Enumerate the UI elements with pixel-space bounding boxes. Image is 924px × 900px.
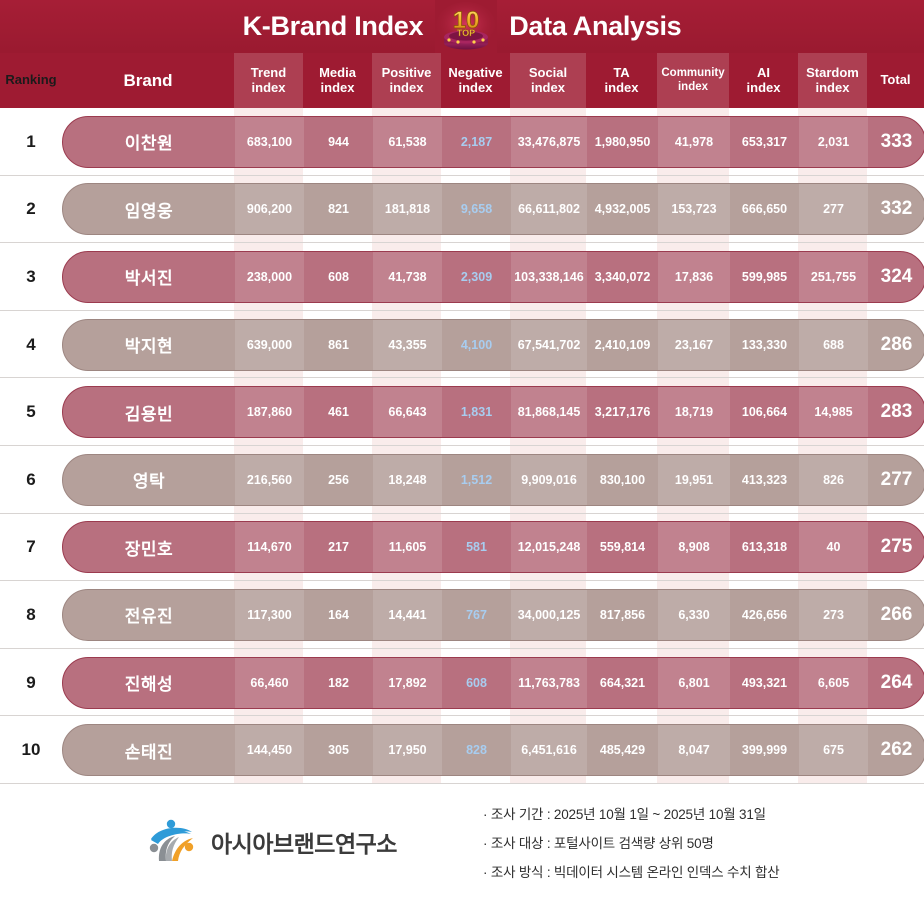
cell-brand: 김용빈 — [63, 387, 235, 437]
kbrand-index-infographic: K-Brand Index — [0, 0, 924, 900]
row-pill: 진해성66,46018217,89260811,763,783664,3216,… — [62, 657, 924, 709]
cell-ta: 817,856 — [587, 590, 658, 640]
page-title-left: K-Brand Index — [243, 11, 424, 42]
cell-media: 861 — [304, 320, 373, 370]
survey-note: · 조사 대상 : 포털사이트 검색량 상위 50명 — [483, 832, 779, 852]
cell-total: 324 — [868, 252, 924, 302]
column-header-sublabel: index — [319, 81, 356, 96]
page-title-right: Data Analysis — [509, 11, 681, 42]
rank-value: 2 — [0, 199, 62, 219]
cell-positive: 43,355 — [373, 320, 442, 370]
cell-ta: 3,340,072 — [587, 252, 658, 302]
cell-total: 266 — [868, 590, 924, 640]
cell-community: 8,047 — [658, 725, 730, 775]
cell-brand: 임영웅 — [63, 184, 235, 234]
cell-negative: 828 — [442, 725, 511, 775]
cell-ai: 399,999 — [730, 725, 799, 775]
cell-social: 67,541,702 — [511, 320, 587, 370]
cell-community: 23,167 — [658, 320, 730, 370]
cell-ai: 653,317 — [730, 117, 799, 167]
cell-negative: 9,658 — [442, 184, 511, 234]
column-header-label: Total — [880, 73, 910, 88]
cell-social: 81,868,145 — [511, 387, 587, 437]
cell-community: 19,951 — [658, 455, 730, 505]
cell-ai: 413,323 — [730, 455, 799, 505]
rank-value: 4 — [0, 335, 62, 355]
cell-social: 11,763,783 — [511, 658, 587, 708]
cell-community: 6,330 — [658, 590, 730, 640]
row-pill: 전유진117,30016414,44176734,000,125817,8566… — [62, 589, 924, 641]
column-header-trend: Trendindex — [234, 53, 303, 108]
table-row[interactable]: 4박지현639,00086143,3554,10067,541,7022,410… — [0, 311, 924, 379]
rank-value: 6 — [0, 470, 62, 490]
cell-positive: 181,818 — [373, 184, 442, 234]
survey-note: · 조사 기간 : 2025년 10월 1일 ~ 2025년 10월 31일 — [483, 803, 779, 823]
cell-media: 821 — [304, 184, 373, 234]
table-row[interactable]: 2임영웅906,200821181,8189,65866,611,8024,93… — [0, 176, 924, 244]
table-body: 1이찬원683,10094461,5382,18733,476,8751,980… — [0, 108, 924, 784]
cell-positive: 66,643 — [373, 387, 442, 437]
cell-positive: 18,248 — [373, 455, 442, 505]
cell-ta: 1,980,950 — [587, 117, 658, 167]
cell-stardom: 251,755 — [799, 252, 868, 302]
asia-brand-institute-logo-icon — [145, 815, 199, 869]
cell-social: 9,909,016 — [511, 455, 587, 505]
column-header-label: Media — [319, 66, 356, 81]
cell-social: 66,611,802 — [511, 184, 587, 234]
cell-brand: 손태진 — [63, 725, 235, 775]
column-header-media: Mediaindex — [303, 53, 372, 108]
cell-ta: 3,217,176 — [587, 387, 658, 437]
cell-trend: 187,860 — [235, 387, 304, 437]
column-header-sublabel: index — [806, 81, 859, 96]
column-header-label: Ranking — [5, 73, 56, 88]
cell-ta: 830,100 — [587, 455, 658, 505]
cell-total: 262 — [868, 725, 924, 775]
row-pill: 영탁216,56025618,2481,5129,909,016830,1001… — [62, 454, 924, 506]
cell-ai: 599,985 — [730, 252, 799, 302]
cell-stardom: 826 — [799, 455, 868, 505]
column-header-sublabel: index — [529, 81, 567, 96]
cell-social: 103,338,146 — [511, 252, 587, 302]
cell-ai: 426,656 — [730, 590, 799, 640]
cell-media: 944 — [304, 117, 373, 167]
cell-trend: 216,560 — [235, 455, 304, 505]
cell-community: 6,801 — [658, 658, 730, 708]
column-header-ai: AIindex — [729, 53, 798, 108]
cell-total: 275 — [868, 522, 924, 572]
cell-trend: 117,300 — [235, 590, 304, 640]
cell-positive: 17,892 — [373, 658, 442, 708]
cell-trend: 144,450 — [235, 725, 304, 775]
cell-positive: 17,950 — [373, 725, 442, 775]
cell-ta: 4,932,005 — [587, 184, 658, 234]
cell-negative: 608 — [442, 658, 511, 708]
cell-stardom: 40 — [799, 522, 868, 572]
cell-brand: 진해성 — [63, 658, 235, 708]
cell-social: 33,476,875 — [511, 117, 587, 167]
cell-trend: 238,000 — [235, 252, 304, 302]
column-header-brand: Brand — [62, 53, 234, 108]
row-pill: 박지현639,00086143,3554,10067,541,7022,410,… — [62, 319, 924, 371]
cell-brand: 박지현 — [63, 320, 235, 370]
org-name: 아시아브랜드연구소 — [211, 825, 397, 859]
survey-notes: · 조사 기간 : 2025년 10월 1일 ~ 2025년 10월 31일· … — [483, 803, 779, 881]
cell-community: 8,908 — [658, 522, 730, 572]
table-row[interactable]: 10손태진144,45030517,9508286,451,616485,429… — [0, 716, 924, 784]
cell-ai: 613,318 — [730, 522, 799, 572]
rank-value: 9 — [0, 673, 62, 693]
cell-total: 277 — [868, 455, 924, 505]
rank-value: 10 — [0, 740, 62, 760]
column-header-label: Negative — [448, 66, 502, 81]
cell-negative: 1,831 — [442, 387, 511, 437]
row-pill: 임영웅906,200821181,8189,65866,611,8024,932… — [62, 183, 924, 235]
cell-trend: 906,200 — [235, 184, 304, 234]
cell-total: 264 — [868, 658, 924, 708]
cell-negative: 1,512 — [442, 455, 511, 505]
column-header-label: Stardom — [806, 66, 859, 81]
cell-media: 217 — [304, 522, 373, 572]
column-header-ranking: Ranking — [0, 53, 62, 108]
rank-value: 8 — [0, 605, 62, 625]
cell-positive: 14,441 — [373, 590, 442, 640]
cell-media: 182 — [304, 658, 373, 708]
cell-media: 164 — [304, 590, 373, 640]
row-pill: 손태진144,45030517,9508286,451,616485,4298,… — [62, 724, 924, 776]
column-header-total: Total — [867, 53, 924, 108]
cell-stardom: 675 — [799, 725, 868, 775]
table-row[interactable]: 7장민호114,67021711,60558112,015,248559,814… — [0, 514, 924, 582]
column-header-ta: TAindex — [586, 53, 657, 108]
rank-value: 3 — [0, 267, 62, 287]
column-header-sublabel: index — [605, 81, 639, 96]
cell-stardom: 273 — [799, 590, 868, 640]
cell-total: 283 — [868, 387, 924, 437]
cell-trend: 66,460 — [235, 658, 304, 708]
cell-stardom: 14,985 — [799, 387, 868, 437]
org-branding: 아시아브랜드연구소 — [145, 815, 465, 869]
column-header-sublabel: index — [448, 81, 502, 96]
cell-negative: 2,187 — [442, 117, 511, 167]
cell-media: 256 — [304, 455, 373, 505]
cell-ai: 133,330 — [730, 320, 799, 370]
svg-text:TOP: TOP — [457, 28, 475, 38]
cell-negative: 767 — [442, 590, 511, 640]
rank-value: 1 — [0, 132, 62, 152]
cell-stardom: 6,605 — [799, 658, 868, 708]
column-header-label: TA — [605, 66, 639, 81]
column-header-label: Community — [661, 67, 724, 80]
cell-community: 153,723 — [658, 184, 730, 234]
cell-positive: 41,738 — [373, 252, 442, 302]
cell-trend: 683,100 — [235, 117, 304, 167]
cell-trend: 639,000 — [235, 320, 304, 370]
row-pill: 김용빈187,86046166,6431,83181,868,1453,217,… — [62, 386, 924, 438]
cell-social: 34,000,125 — [511, 590, 587, 640]
cell-ta: 2,410,109 — [587, 320, 658, 370]
cell-negative: 4,100 — [442, 320, 511, 370]
cell-stardom: 2,031 — [799, 117, 868, 167]
column-header-sublabel: index — [661, 81, 724, 94]
column-header-sublabel: index — [382, 81, 432, 96]
cell-negative: 2,309 — [442, 252, 511, 302]
cell-total: 286 — [868, 320, 924, 370]
footer: 아시아브랜드연구소 · 조사 기간 : 2025년 10월 1일 ~ 2025년… — [0, 784, 924, 900]
rank-value: 5 — [0, 402, 62, 422]
title-bar: K-Brand Index — [0, 0, 924, 53]
cell-social: 12,015,248 — [511, 522, 587, 572]
cell-ta: 559,814 — [587, 522, 658, 572]
cell-ai: 106,664 — [730, 387, 799, 437]
table-row[interactable]: 1이찬원683,10094461,5382,18733,476,8751,980… — [0, 108, 924, 176]
cell-brand: 장민호 — [63, 522, 235, 572]
cell-total: 333 — [868, 117, 924, 167]
cell-ai: 493,321 — [730, 658, 799, 708]
cell-social: 6,451,616 — [511, 725, 587, 775]
cell-brand: 영탁 — [63, 455, 235, 505]
cell-positive: 11,605 — [373, 522, 442, 572]
cell-brand: 전유진 — [63, 590, 235, 640]
table-row[interactable]: 5김용빈187,86046166,6431,83181,868,1453,217… — [0, 378, 924, 446]
column-header-label: Positive — [382, 66, 432, 81]
cell-negative: 581 — [442, 522, 511, 572]
table-row[interactable]: 9진해성66,46018217,89260811,763,783664,3216… — [0, 649, 924, 717]
column-header-sublabel: index — [251, 81, 286, 96]
column-header-stardom: Stardomindex — [798, 53, 867, 108]
table-row[interactable]: 8전유진117,30016414,44176734,000,125817,856… — [0, 581, 924, 649]
column-header-negative: Negativeindex — [441, 53, 510, 108]
column-header-social: Socialindex — [510, 53, 586, 108]
cell-community: 17,836 — [658, 252, 730, 302]
cell-media: 608 — [304, 252, 373, 302]
row-pill: 장민호114,67021711,60558112,015,248559,8148… — [62, 521, 924, 573]
cell-ta: 664,321 — [587, 658, 658, 708]
table-row[interactable]: 6영탁216,56025618,2481,5129,909,016830,100… — [0, 446, 924, 514]
cell-media: 305 — [304, 725, 373, 775]
cell-community: 18,719 — [658, 387, 730, 437]
cell-community: 41,978 — [658, 117, 730, 167]
column-header-label: Brand — [123, 71, 172, 91]
row-pill: 박서진238,00060841,7382,309103,338,1463,340… — [62, 251, 924, 303]
column-header-sublabel: index — [747, 81, 781, 96]
cell-total: 332 — [868, 184, 924, 234]
column-header-label: Trend — [251, 66, 286, 81]
cell-media: 461 — [304, 387, 373, 437]
rank-value: 7 — [0, 537, 62, 557]
cell-positive: 61,538 — [373, 117, 442, 167]
survey-note: · 조사 방식 : 빅데이터 시스템 온라인 인덱스 수치 합산 — [483, 861, 779, 881]
cell-brand: 박서진 — [63, 252, 235, 302]
table-header-row: RankingBrandTrendindexMediaindexPositive… — [0, 53, 924, 108]
column-header-positive: Positiveindex — [372, 53, 441, 108]
cell-stardom: 688 — [799, 320, 868, 370]
cell-brand: 이찬원 — [63, 117, 235, 167]
table-row[interactable]: 3박서진238,00060841,7382,309103,338,1463,34… — [0, 243, 924, 311]
cell-trend: 114,670 — [235, 522, 304, 572]
top10-badge-icon: 10 TOP — [435, 0, 497, 53]
column-header-label: Social — [529, 66, 567, 81]
row-pill: 이찬원683,10094461,5382,18733,476,8751,980,… — [62, 116, 924, 168]
cell-ta: 485,429 — [587, 725, 658, 775]
cell-ai: 666,650 — [730, 184, 799, 234]
cell-stardom: 277 — [799, 184, 868, 234]
column-header-community: Communityindex — [657, 53, 729, 108]
column-header-label: AI — [747, 66, 781, 81]
